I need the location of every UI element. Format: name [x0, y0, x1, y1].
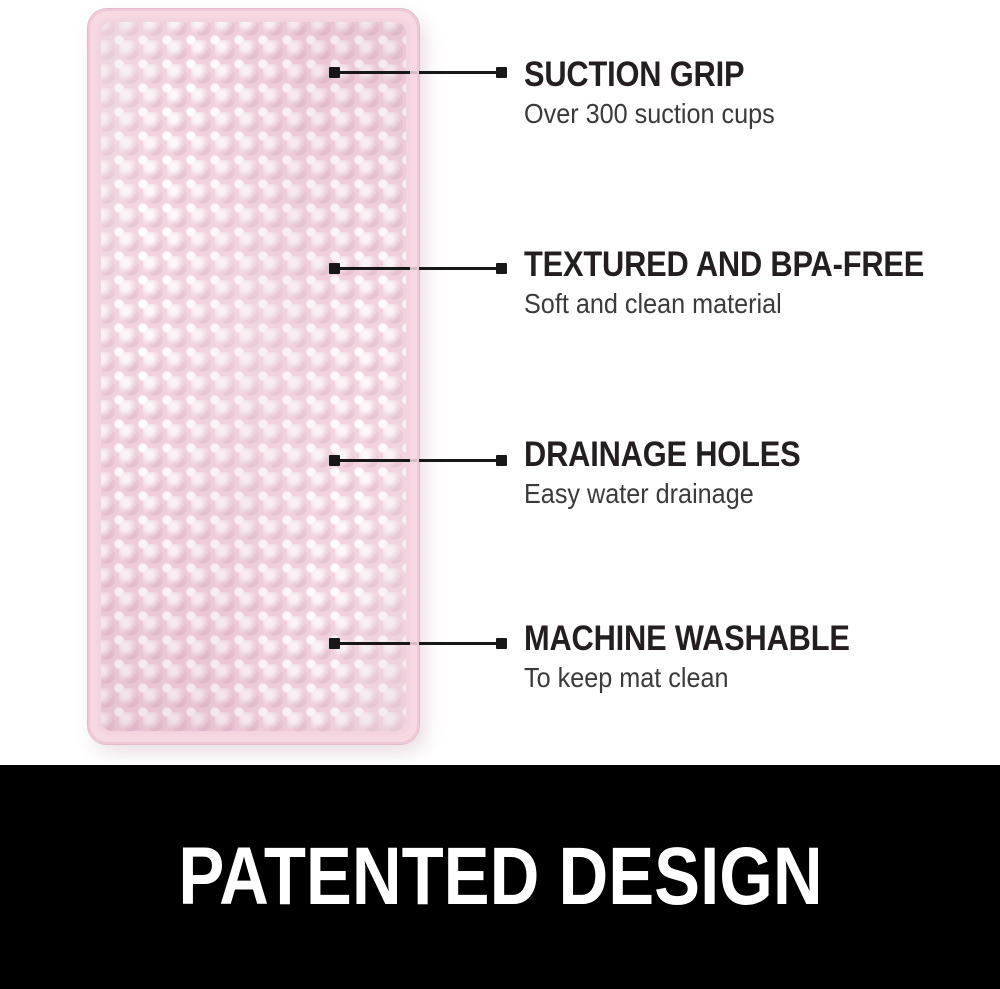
leader-end-marker-4	[496, 638, 507, 649]
callout-subtitle-2: Soft and clean material	[524, 288, 933, 320]
leader-rule-1	[336, 71, 500, 74]
callout-subtitle-1: Over 300 suction cups	[524, 98, 775, 130]
mat-textured-field	[101, 22, 406, 731]
leader-rule-2	[336, 267, 500, 270]
leader-rule-4	[336, 642, 500, 645]
leader-line-3	[329, 452, 507, 468]
leader-end-marker-3	[496, 455, 507, 466]
leader-line-1	[329, 64, 507, 80]
bottom-banner: PATENTED DESIGN	[0, 765, 1000, 989]
leader-end-marker-1	[496, 67, 507, 78]
leader-line-4	[329, 635, 507, 651]
callout-title-4: MACHINE WASHABLE	[524, 620, 850, 658]
callout-subtitle-3: Easy water drainage	[524, 478, 807, 510]
callout-subtitle-4: To keep mat clean	[524, 662, 857, 694]
leader-end-marker-2	[496, 263, 507, 274]
leader-line-2	[329, 260, 507, 276]
callout-title-2: TEXTURED AND BPA-FREE	[524, 246, 924, 284]
surface-vignette	[101, 22, 406, 731]
infographic-page: SUCTION GRIP Over 300 suction cups TEXTU…	[0, 0, 1000, 989]
callout-title-3: DRAINAGE HOLES	[524, 436, 800, 474]
banner-headline: PATENTED DESIGN	[178, 836, 822, 918]
callout-title-1: SUCTION GRIP	[524, 56, 769, 94]
leader-rule-3	[336, 459, 500, 462]
